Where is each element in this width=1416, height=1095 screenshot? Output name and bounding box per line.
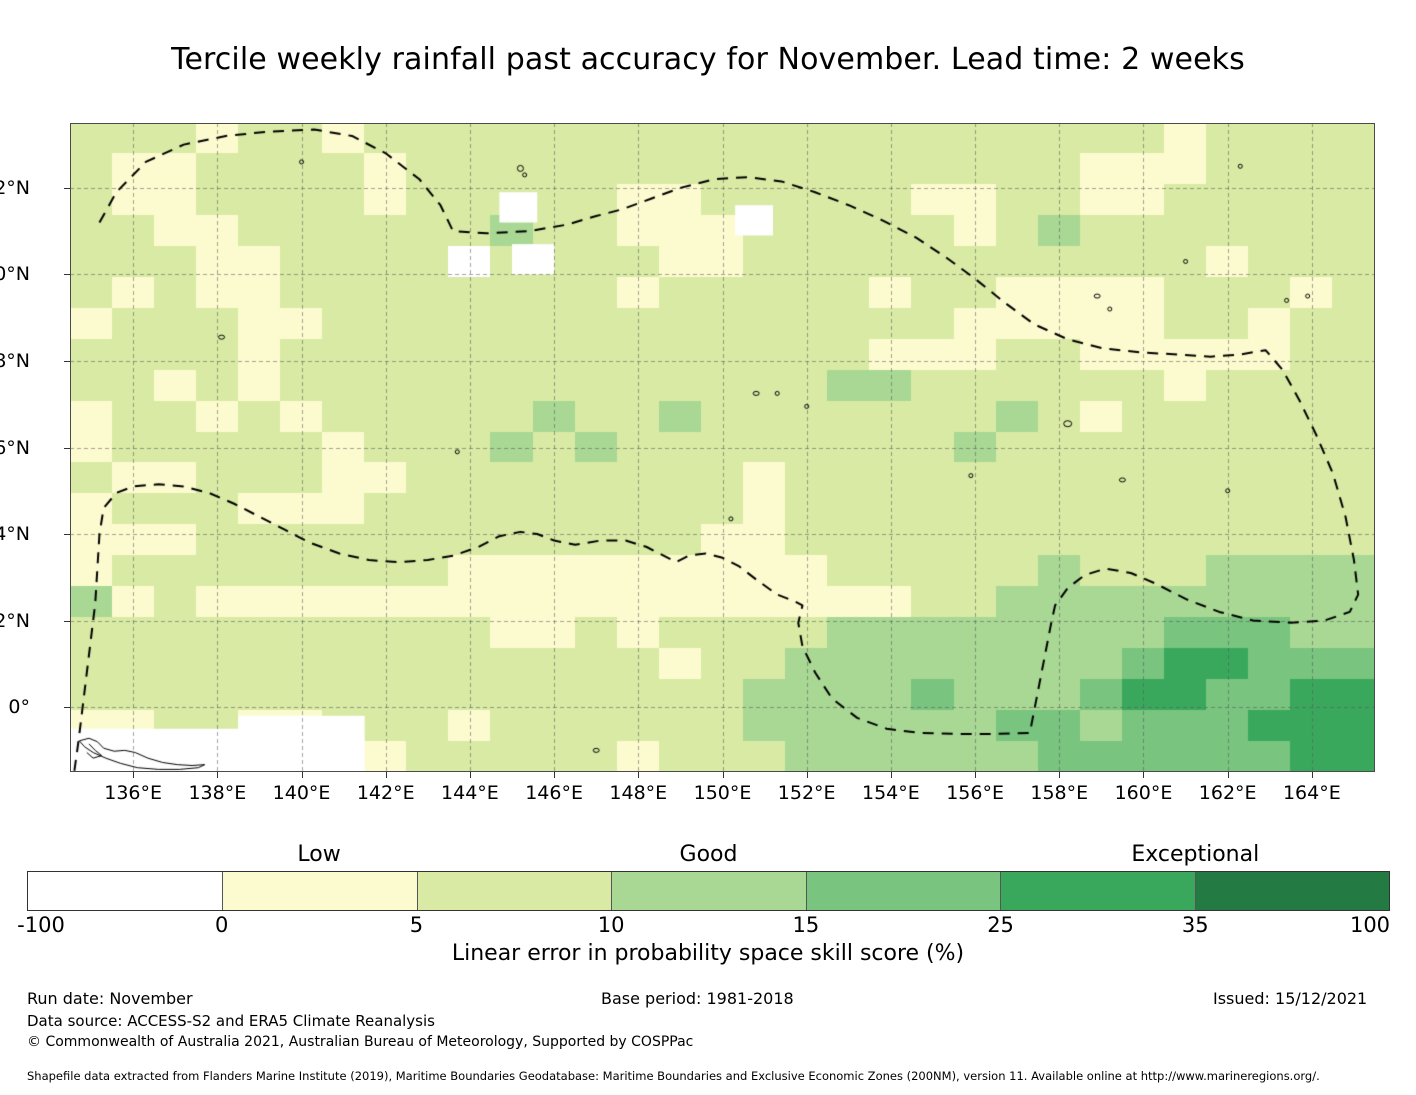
colorbar-tick-label: 25	[987, 913, 1014, 937]
colorbar-category-low: Low	[297, 842, 340, 867]
footer-shapefile-attribution: Shapefile data extracted from Flanders M…	[27, 1069, 1320, 1083]
y-axis-tick-mark	[64, 188, 70, 189]
footer-base-period: Base period: 1981-2018	[601, 989, 794, 1008]
x-axis-tick-label: 156°E	[946, 782, 1004, 804]
x-axis-tick-mark	[723, 772, 724, 778]
colorbar-segment	[28, 872, 222, 910]
page-title: Tercile weekly rainfall past accuracy fo…	[0, 42, 1416, 77]
x-axis-tick-label: 146°E	[525, 782, 583, 804]
colorbar-tick-label: 0	[215, 913, 228, 937]
colorbar-tick-label: 15	[792, 913, 819, 937]
x-axis-tick-mark	[1228, 772, 1229, 778]
x-axis-tick-mark	[217, 772, 218, 778]
colorbar-segment	[223, 872, 416, 910]
y-axis-tick-label: 12°N	[0, 177, 30, 199]
x-axis-tick-label: 152°E	[778, 782, 836, 804]
y-axis-tick-mark	[64, 448, 70, 449]
y-axis-tick-mark	[64, 274, 70, 275]
colorbar-tick-label: 35	[1182, 913, 1209, 937]
colorbar	[27, 871, 1390, 911]
x-axis-tick-label: 140°E	[273, 782, 331, 804]
colorbar-segment	[1196, 872, 1389, 910]
x-axis-tick-mark	[638, 772, 639, 778]
x-axis-tick-mark	[1143, 772, 1144, 778]
x-axis-tick-label: 162°E	[1199, 782, 1257, 804]
x-axis-tick-mark	[1312, 772, 1313, 778]
x-axis-tick-label: 136°E	[104, 782, 162, 804]
skill-score-heatmap	[70, 123, 1375, 772]
x-axis-tick-label: 148°E	[609, 782, 667, 804]
y-axis-tick-mark	[64, 707, 70, 708]
y-axis-tick-mark	[64, 361, 70, 362]
x-axis-tick-label: 150°E	[694, 782, 752, 804]
x-axis-tick-mark	[1059, 772, 1060, 778]
x-axis-tick-mark	[470, 772, 471, 778]
x-axis-tick-label: 158°E	[1030, 782, 1088, 804]
x-axis-tick-label: 142°E	[357, 782, 415, 804]
y-axis-tick-label: 2°N	[0, 610, 30, 632]
x-axis-tick-label: 138°E	[188, 782, 246, 804]
colorbar-tick-label: 10	[598, 913, 625, 937]
x-axis-tick-label: 160°E	[1115, 782, 1173, 804]
y-axis-tick-label: 0°	[8, 696, 30, 718]
colorbar-gradient	[27, 871, 1390, 911]
colorbar-segment	[807, 872, 1000, 910]
x-axis-tick-mark	[807, 772, 808, 778]
footer-run-date: Run date: November	[27, 989, 193, 1008]
footer-copyright: © Commonwealth of Australia 2021, Austra…	[27, 1034, 693, 1050]
colorbar-category-exceptional: Exceptional	[1131, 842, 1259, 867]
colorbar-segment	[1001, 872, 1194, 910]
colorbar-segment	[418, 872, 611, 910]
x-axis-tick-label: 154°E	[862, 782, 920, 804]
x-axis-tick-label: 164°E	[1283, 782, 1341, 804]
colorbar-axis-label: Linear error in probability space skill …	[0, 941, 1416, 966]
y-axis-tick-label: 6°N	[0, 437, 30, 459]
x-axis-tick-label: 144°E	[441, 782, 499, 804]
x-axis-tick-mark	[133, 772, 134, 778]
x-axis-tick-mark	[554, 772, 555, 778]
colorbar-tick-label: 100	[1350, 913, 1390, 937]
colorbar-tick-label: 5	[410, 913, 423, 937]
footer-data-source: Data source: ACCESS-S2 and ERA5 Climate …	[27, 1012, 435, 1030]
y-axis-tick-label: 4°N	[0, 523, 30, 545]
y-axis-tick-label: 8°N	[0, 350, 30, 372]
x-axis-tick-mark	[302, 772, 303, 778]
y-axis-tick-mark	[64, 534, 70, 535]
x-axis-tick-mark	[891, 772, 892, 778]
colorbar-tick-label: -100	[17, 913, 65, 937]
colorbar-segment	[612, 872, 805, 910]
y-axis-tick-label: 10°N	[0, 263, 30, 285]
x-axis-tick-mark	[386, 772, 387, 778]
y-axis-tick-mark	[64, 621, 70, 622]
footer-issued-date: Issued: 15/12/2021	[1213, 989, 1367, 1008]
map-plot-area	[70, 123, 1375, 772]
x-axis-tick-mark	[975, 772, 976, 778]
colorbar-category-good: Good	[680, 842, 738, 867]
